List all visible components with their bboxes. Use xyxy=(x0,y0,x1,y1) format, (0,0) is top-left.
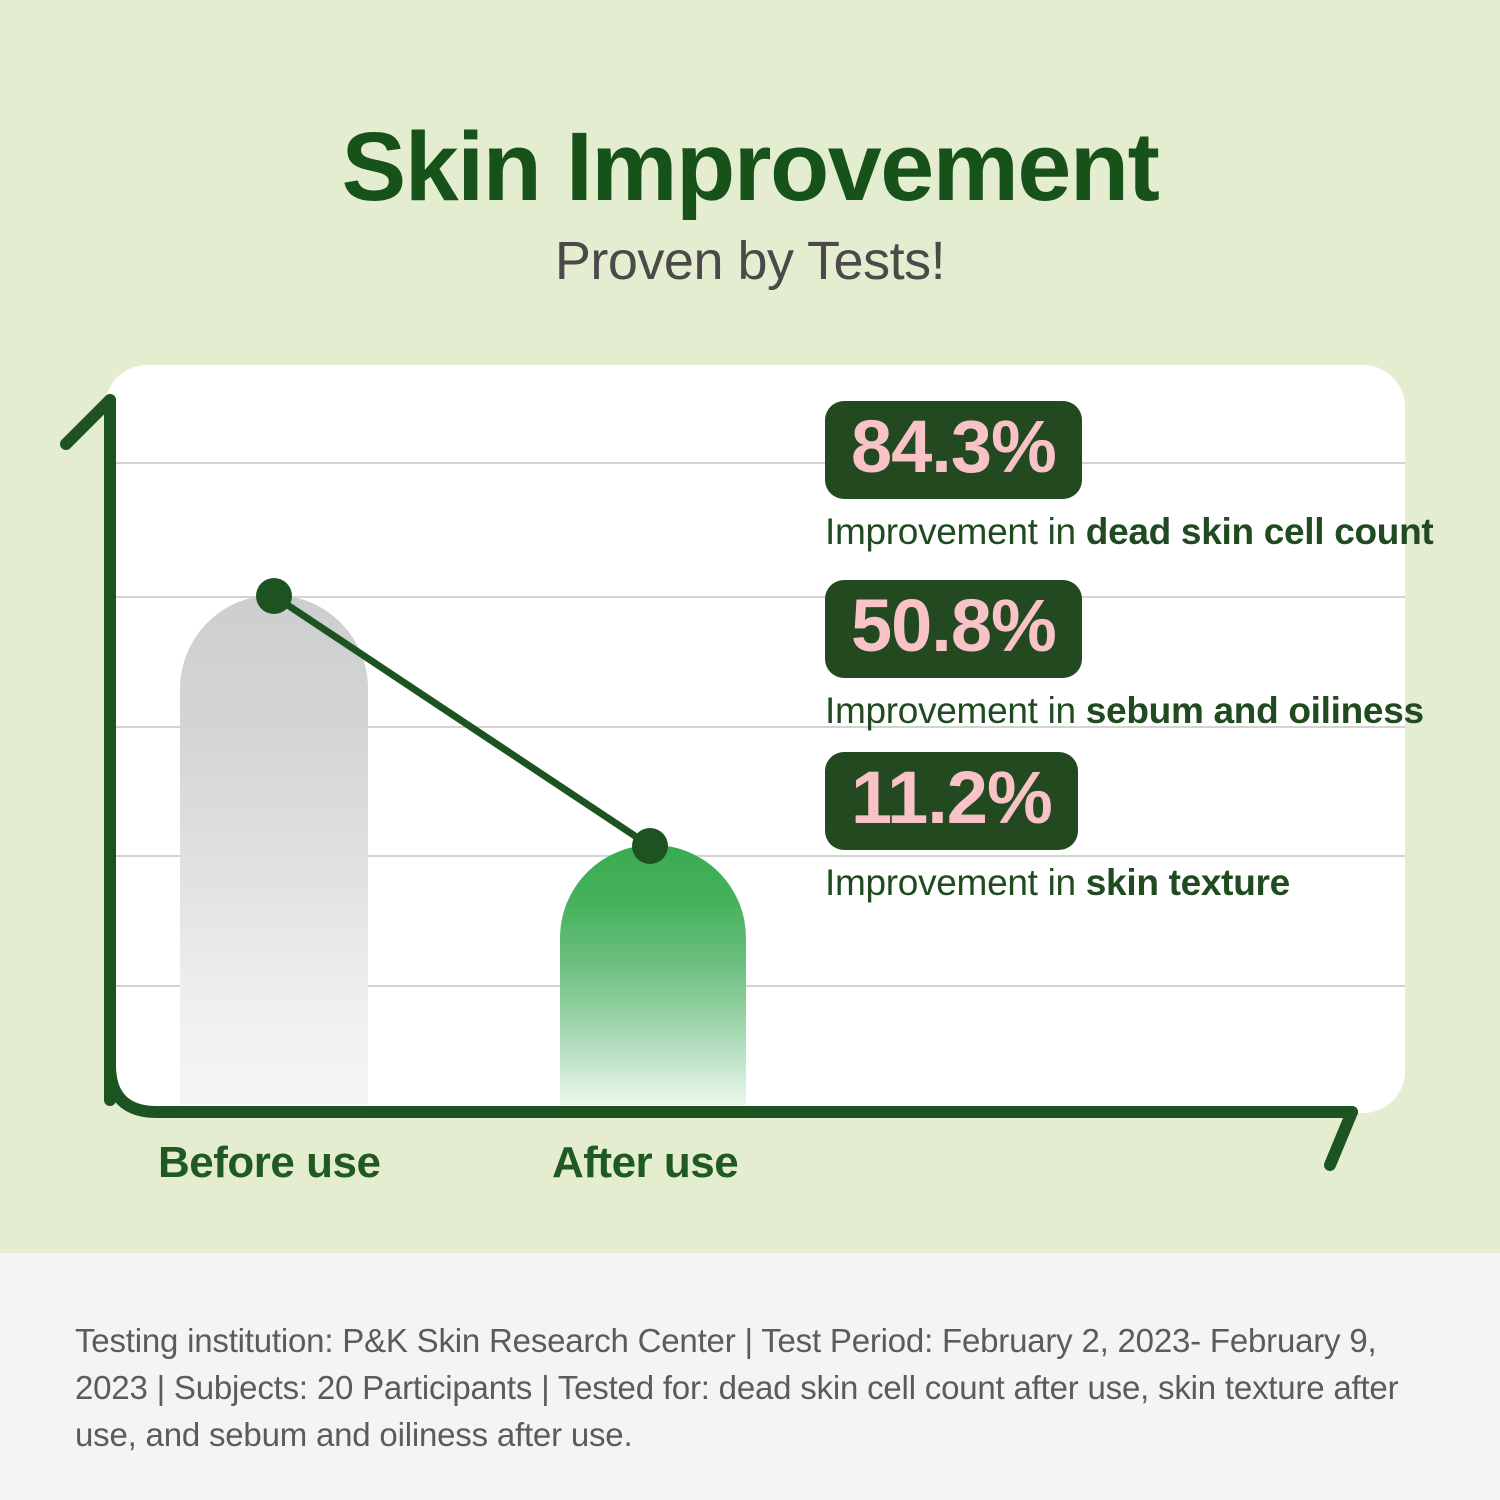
stat-caption-prefix: Improvement in xyxy=(825,511,1086,552)
trend-line-segment xyxy=(274,596,650,846)
hero-panel: Skin Improvement Proven by Tests! Before… xyxy=(0,0,1500,1253)
stat-caption-strong: dead skin cell count xyxy=(1086,511,1434,552)
stat-block-skin-texture: 11.2% Improvement in skin texture xyxy=(825,752,1290,904)
footer-disclaimer-text: Testing institution: P&K Skin Research C… xyxy=(75,1318,1400,1459)
stat-caption-strong: skin texture xyxy=(1086,862,1290,903)
stat-caption: Improvement in dead skin cell count xyxy=(825,511,1433,554)
stat-block-sebum-and-oiliness: 50.8% Improvement in sebum and oiliness xyxy=(825,580,1424,732)
data-point-after-use xyxy=(632,828,668,864)
stat-caption: Improvement in sebum and oiliness xyxy=(825,690,1424,733)
x-axis-label-after-use: After use xyxy=(552,1138,738,1188)
stat-caption-strong: sebum and oiliness xyxy=(1086,690,1424,731)
x-axis-label-before-use: Before use xyxy=(158,1138,380,1188)
stat-block-dead-skin-cell-count: 84.3% Improvement in dead skin cell coun… xyxy=(825,401,1433,553)
data-point-before-use xyxy=(256,578,292,614)
stat-badge-value: 11.2% xyxy=(825,752,1078,850)
stat-badge-value: 84.3% xyxy=(825,401,1082,499)
stat-caption-prefix: Improvement in xyxy=(825,862,1086,903)
stat-badge-value: 50.8% xyxy=(825,580,1082,678)
stat-caption-prefix: Improvement in xyxy=(825,690,1086,731)
stat-caption: Improvement in skin texture xyxy=(825,862,1290,905)
